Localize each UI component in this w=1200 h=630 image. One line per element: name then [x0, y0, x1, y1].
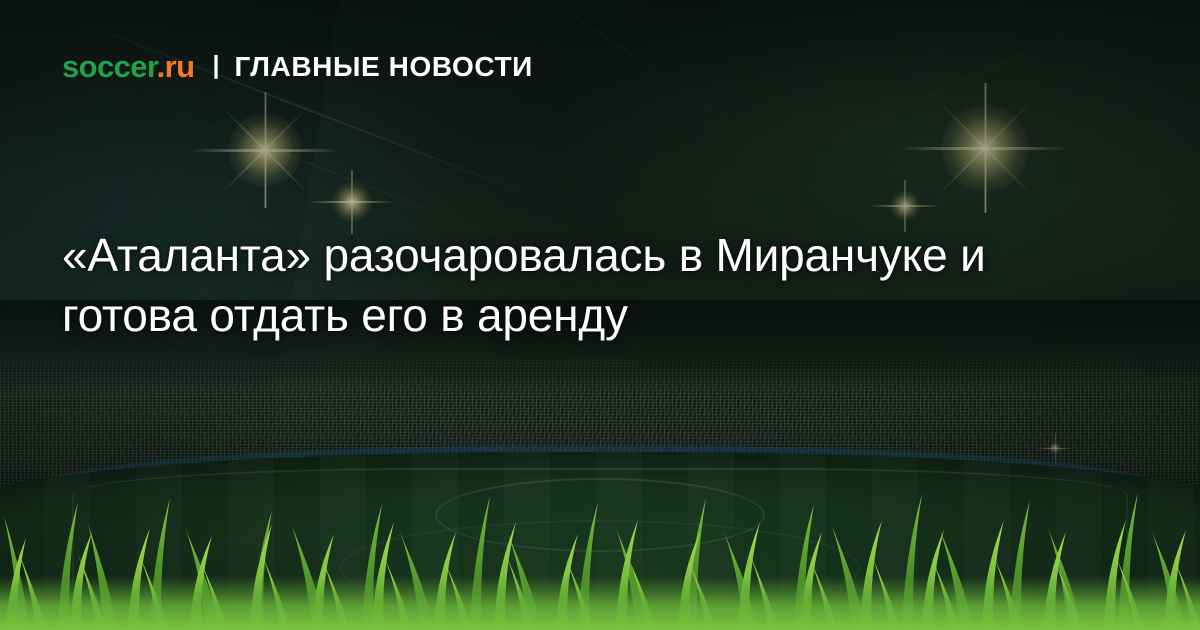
- headline-title: «Аталанта» разочаровалась в Миранчуке и …: [62, 226, 1022, 346]
- logo-brand-text: soccer: [62, 49, 157, 84]
- logo-tld-text: .ru: [157, 49, 195, 84]
- card-header: soccer.ru | ГЛАВНЫЕ НОВОСТИ: [62, 51, 533, 82]
- header-divider: |: [212, 53, 219, 78]
- soccer-ru-logo[interactable]: soccer.ru: [62, 51, 194, 82]
- news-share-card: soccer.ru | ГЛАВНЫЕ НОВОСТИ «Аталанта» р…: [0, 0, 1200, 630]
- foreground-grass: [0, 480, 1200, 630]
- header-kicker-label: ГЛАВНЫЕ НОВОСТИ: [234, 53, 532, 81]
